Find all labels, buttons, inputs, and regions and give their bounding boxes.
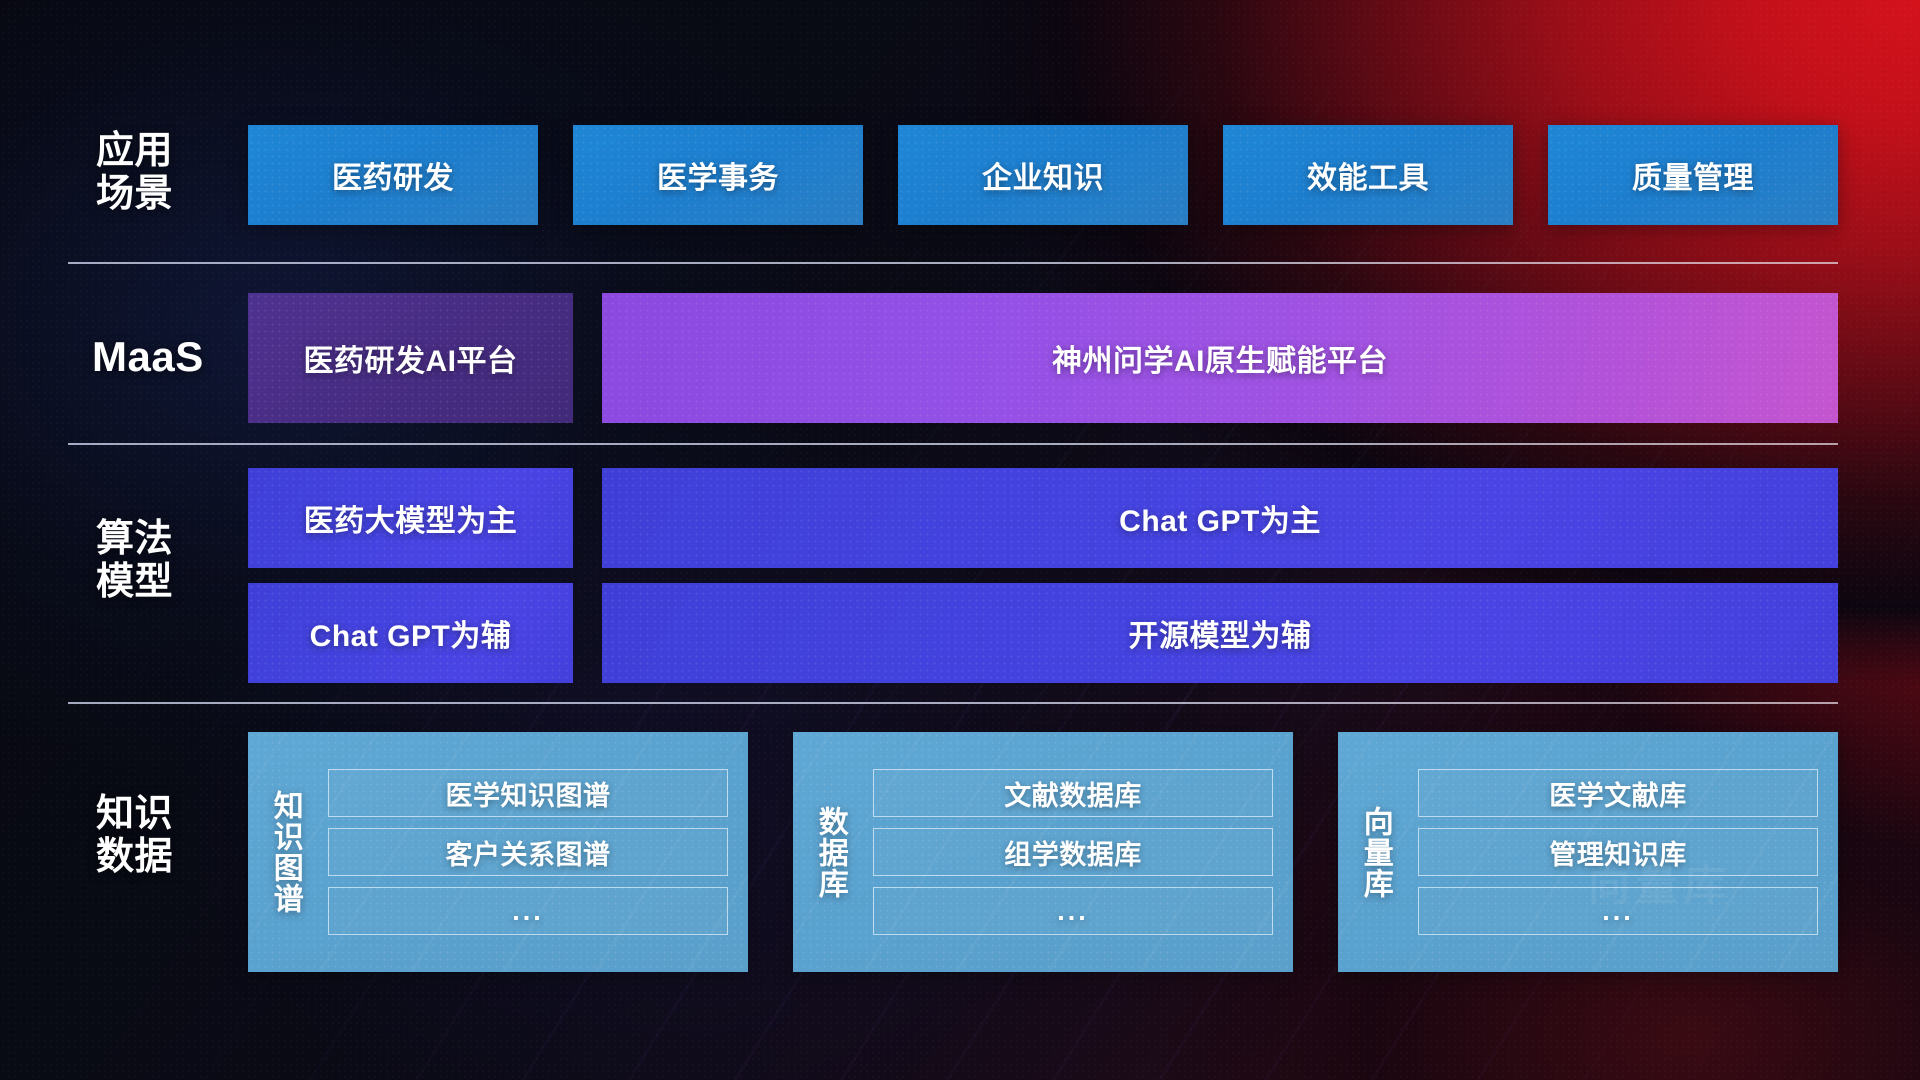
divider-algorithm-knowledge xyxy=(68,702,1838,704)
algo-top-right-label: Chat GPT为主 xyxy=(1119,496,1321,540)
app-box-4[interactable]: 效能工具 xyxy=(1223,125,1513,225)
algo-bottom-left-label: Chat GPT为辅 xyxy=(310,611,512,655)
knowledge-panel-2-item-1[interactable]: 文献数据库 xyxy=(873,769,1273,817)
knowledge-panel-3-item-3[interactable]: ... xyxy=(1418,887,1818,935)
knowledge-panel-2-item-2[interactable]: 组学数据库 xyxy=(873,828,1273,876)
app-box-2-label: 医学事务 xyxy=(657,153,779,197)
maas-left-box-label: 医药研发AI平台 xyxy=(304,336,518,380)
knowledge-panel-2-items: 文献数据库 组学数据库 ... xyxy=(867,732,1293,972)
row-label-maas: MaaS xyxy=(92,333,204,381)
knowledge-panel-2[interactable]: 数据库 文献数据库 组学数据库 ... xyxy=(793,732,1293,972)
app-box-3-label: 企业知识 xyxy=(982,153,1104,197)
knowledge-panel-2-vertical-label: 数据库 xyxy=(793,732,867,972)
knowledge-panel-3[interactable]: 向量库 向量库 医学文献库 管理知识库 ... xyxy=(1338,732,1838,972)
divider-application-maas xyxy=(68,262,1838,264)
app-box-5[interactable]: 质量管理 xyxy=(1548,125,1838,225)
algo-bottom-left-box[interactable]: Chat GPT为辅 xyxy=(248,583,573,683)
algo-bottom-right-box[interactable]: 开源模型为辅 xyxy=(602,583,1838,683)
algo-top-right-box[interactable]: Chat GPT为主 xyxy=(602,468,1838,568)
algo-top-left-label: 医药大模型为主 xyxy=(304,496,518,540)
diagram-canvas: 应用 场景 医药研发 医学事务 企业知识 效能工具 质量管理 MaaS 医药研发… xyxy=(0,0,1920,1080)
knowledge-panel-1-items: 医学知识图谱 客户关系图谱 ... xyxy=(322,732,748,972)
row-label-knowledge: 知识 数据 xyxy=(96,793,173,880)
algo-top-left-box[interactable]: 医药大模型为主 xyxy=(248,468,573,568)
divider-maas-algorithm xyxy=(68,443,1838,445)
app-box-2[interactable]: 医学事务 xyxy=(573,125,863,225)
algo-bottom-right-label: 开源模型为辅 xyxy=(1129,611,1312,655)
app-box-1-label: 医药研发 xyxy=(332,153,454,197)
row-label-algorithm: 算法 模型 xyxy=(96,518,173,605)
maas-right-box[interactable]: 神州问学AI原生赋能平台 xyxy=(602,293,1838,423)
knowledge-panel-3-items: 医学文献库 管理知识库 ... xyxy=(1412,732,1838,972)
knowledge-panel-1-item-2[interactable]: 客户关系图谱 xyxy=(328,828,728,876)
app-box-5-label: 质量管理 xyxy=(1632,153,1754,197)
row-label-application: 应用 场景 xyxy=(96,130,173,217)
knowledge-panel-1-vertical-label: 知识图谱 xyxy=(248,732,322,972)
app-box-3[interactable]: 企业知识 xyxy=(898,125,1188,225)
knowledge-panel-3-item-2[interactable]: 管理知识库 xyxy=(1418,828,1818,876)
knowledge-panel-1[interactable]: 知识图谱 医学知识图谱 客户关系图谱 ... xyxy=(248,732,748,972)
app-box-1[interactable]: 医药研发 xyxy=(248,125,538,225)
knowledge-panel-3-vertical-label: 向量库 xyxy=(1338,732,1412,972)
maas-left-box[interactable]: 医药研发AI平台 xyxy=(248,293,573,423)
app-box-4-label: 效能工具 xyxy=(1307,153,1429,197)
maas-right-box-label: 神州问学AI原生赋能平台 xyxy=(1052,336,1388,380)
knowledge-panel-1-item-3[interactable]: ... xyxy=(328,887,728,935)
knowledge-panel-1-item-1[interactable]: 医学知识图谱 xyxy=(328,769,728,817)
knowledge-panel-2-item-3[interactable]: ... xyxy=(873,887,1273,935)
knowledge-panel-3-item-1[interactable]: 医学文献库 xyxy=(1418,769,1818,817)
